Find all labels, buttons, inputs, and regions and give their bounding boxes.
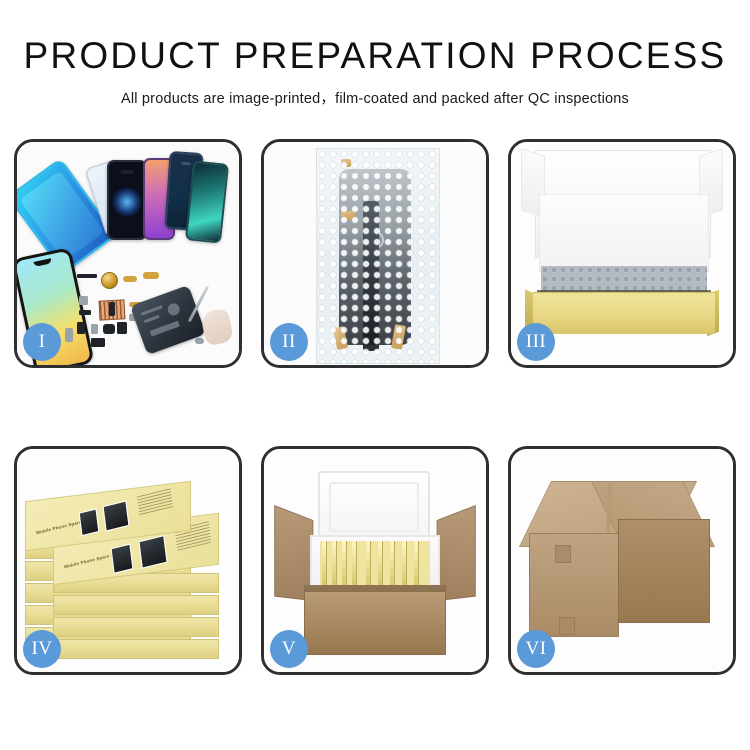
box-spec-lines [137, 488, 173, 516]
small-part-image [65, 328, 73, 342]
small-part-image [77, 274, 97, 278]
gold-coil-part-image [101, 272, 118, 289]
step-badge-2: II [270, 323, 308, 361]
small-part-image [79, 296, 88, 305]
box-window-image [79, 508, 100, 536]
hand-image [200, 307, 234, 346]
stacked-box-image [53, 617, 219, 637]
small-part-image [91, 324, 98, 334]
kraft-box-front-image [533, 292, 715, 334]
header: PRODUCT PREPARATION PROCESS All products… [0, 36, 750, 108]
page-title: PRODUCT PREPARATION PROCESS [0, 36, 750, 77]
yellow-boxes-inside-image [320, 541, 430, 587]
black-screen-phone-image [107, 160, 147, 240]
small-part-image [103, 324, 115, 334]
small-part-image [117, 322, 127, 334]
carton-tape-patch-image [559, 617, 575, 635]
process-step-2: II [261, 139, 489, 368]
process-step-grid: I II [14, 139, 737, 675]
small-part-image [143, 272, 159, 279]
box-window-image [110, 544, 133, 574]
step-badge-6: VI [517, 630, 555, 668]
small-part-image [77, 322, 85, 334]
step-badge-3: III [517, 323, 555, 361]
bubble-wrap-bag-image [316, 148, 440, 364]
product-preparation-infographic: PRODUCT PREPARATION PROCESS All products… [0, 0, 750, 750]
process-step-5: V [261, 446, 489, 675]
step-badge-1: I [23, 323, 61, 361]
bubble-texture [317, 149, 439, 363]
foam-lid-image [318, 471, 430, 543]
small-part-image [123, 276, 137, 282]
carton-tape-patch-image [555, 545, 571, 563]
small-part-image [109, 302, 115, 316]
carton-front-image [304, 591, 446, 655]
white-foam-sheet-image [539, 194, 709, 272]
phone-back-housing-image [130, 285, 206, 355]
small-part-image [195, 338, 204, 344]
process-step-4: Mobile Phone Spare Parts Mobile Phone Sp… [14, 446, 242, 675]
box-window-image [103, 500, 130, 531]
process-step-3: III [508, 139, 736, 368]
process-step-1: I [14, 139, 242, 368]
stacked-box-image [53, 639, 219, 659]
carton-right-face-image [618, 519, 710, 623]
page-subtitle: All products are image-printed，film-coat… [0, 87, 750, 108]
stacked-box-image [53, 595, 219, 615]
step-badge-5: V [270, 630, 308, 668]
box-window-image [138, 535, 167, 569]
teal-wave-phone-image [185, 160, 229, 243]
process-step-6: VI [508, 446, 736, 675]
step-badge-4: IV [23, 630, 61, 668]
small-part-image [91, 338, 105, 347]
small-part-image [79, 310, 91, 315]
